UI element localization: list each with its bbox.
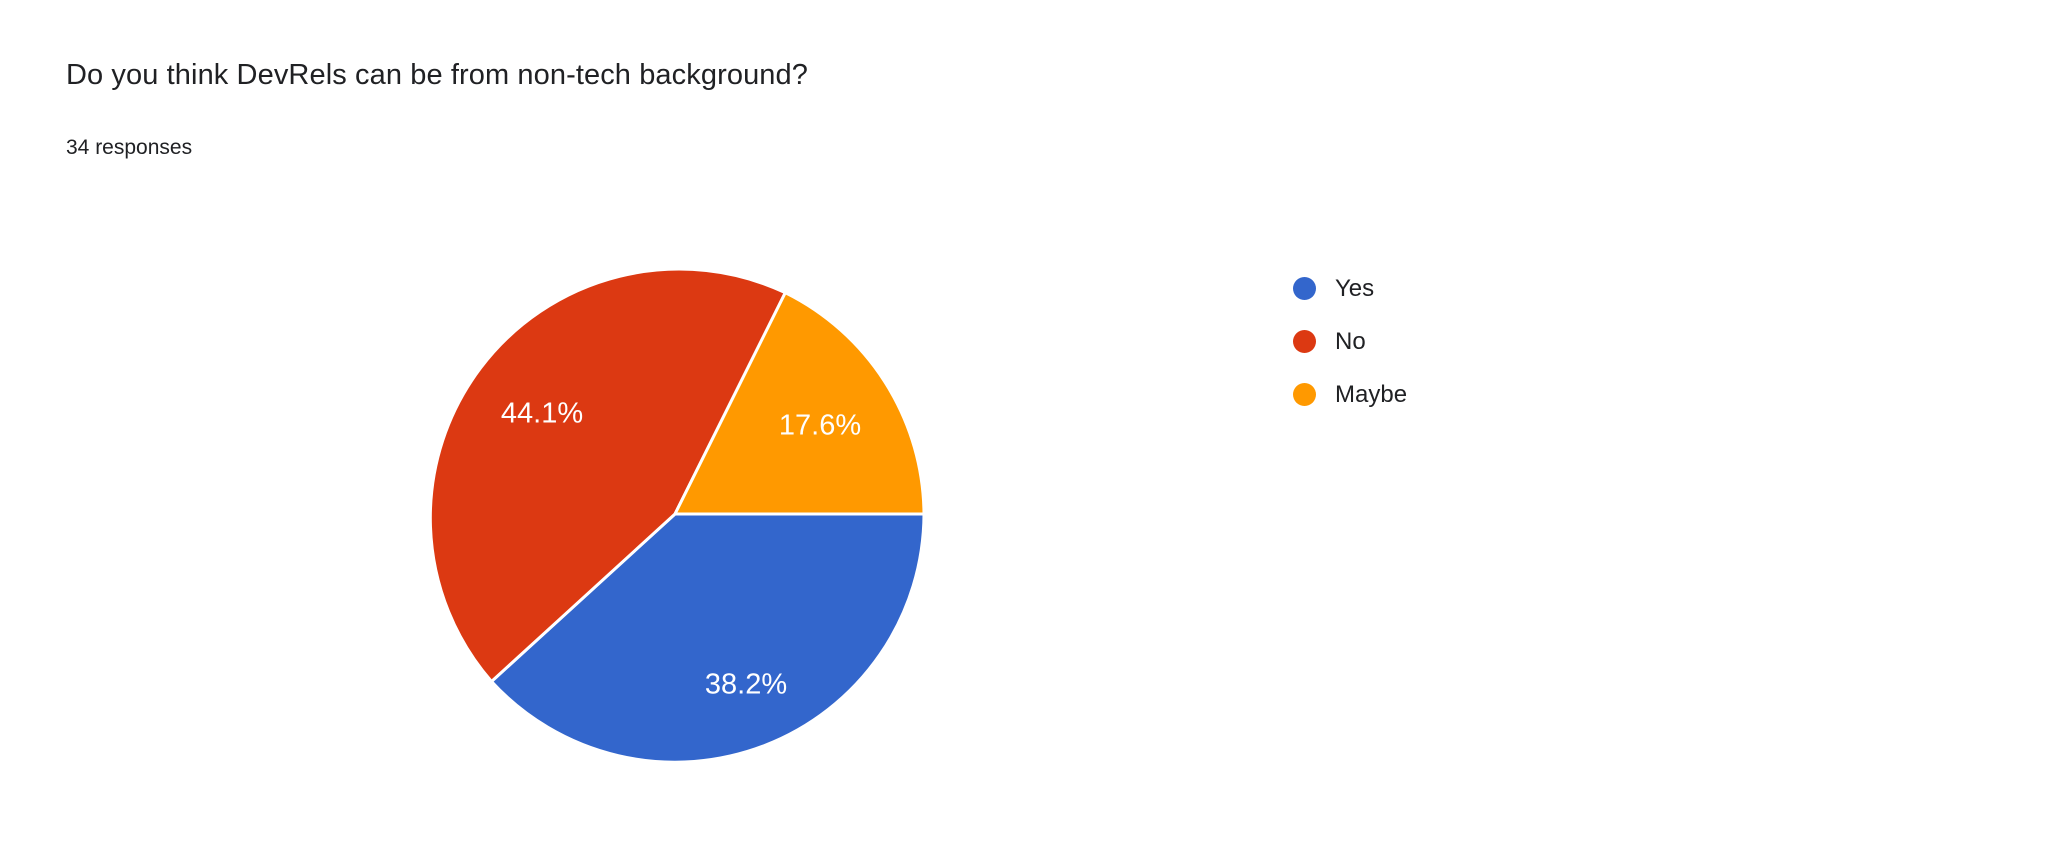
chart-legend: Yes No Maybe bbox=[1293, 262, 1407, 421]
legend-swatch-maybe-icon bbox=[1293, 383, 1316, 406]
legend-label-maybe: Maybe bbox=[1335, 383, 1407, 407]
pie-label-no: 44.1% bbox=[501, 398, 583, 430]
legend-swatch-no-icon bbox=[1293, 330, 1316, 353]
pie-label-maybe: 17.6% bbox=[779, 410, 861, 442]
pie-chart-svg: 38.2% 44.1% 17.6% bbox=[0, 0, 1250, 862]
legend-label-no: No bbox=[1335, 330, 1366, 354]
pie-chart-plot: 38.2% 44.1% 17.6% bbox=[0, 0, 1250, 862]
legend-item-yes[interactable]: Yes bbox=[1293, 262, 1407, 315]
legend-swatch-yes-icon bbox=[1293, 277, 1316, 300]
pie-chart-card: Do you think DevRels can be from non-tec… bbox=[0, 0, 2048, 862]
legend-label-yes: Yes bbox=[1335, 277, 1374, 301]
legend-item-no[interactable]: No bbox=[1293, 315, 1407, 368]
legend-item-maybe[interactable]: Maybe bbox=[1293, 368, 1407, 421]
pie-label-yes: 38.2% bbox=[705, 669, 787, 701]
